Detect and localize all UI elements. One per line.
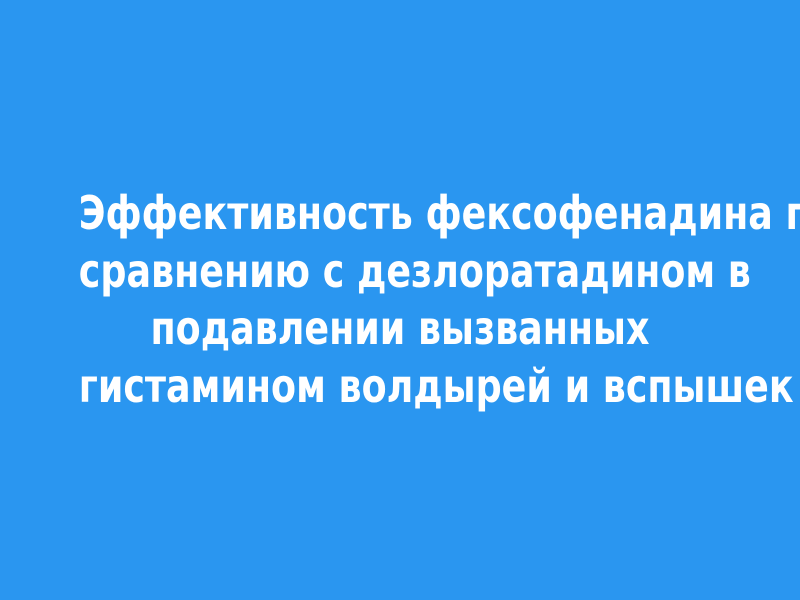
title-line-4: гистамином волдырей и вспышек	[79, 358, 721, 416]
title-line-3: подавлении вызванных	[79, 300, 721, 358]
title-line-2: сравнению с дезлоратадином в	[79, 243, 721, 301]
title-text-block: Эффективность фексофенадина по сравнению…	[35, 185, 765, 415]
title-card: Эффективность фексофенадина по сравнению…	[0, 0, 800, 600]
title-line-1: Эффективность фексофенадина по	[79, 185, 721, 243]
